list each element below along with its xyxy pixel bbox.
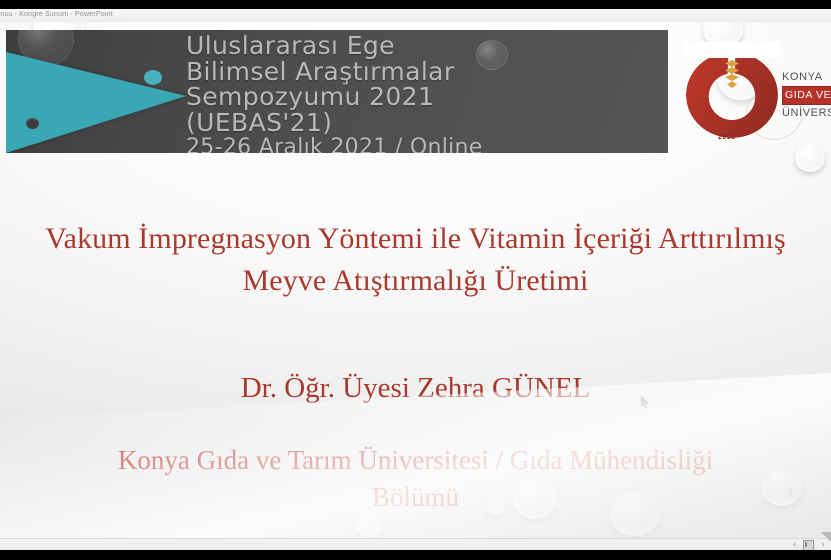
slide-title-line-1: Vakum İmpregnasyon Yöntemi ile Vitamin İ… [0,218,831,260]
banner-line-5: 25-26 Aralık 2021 / Online [186,135,668,153]
slide-menu-icon[interactable] [803,540,814,551]
logo-line-konya: KONYA [782,70,831,85]
symposium-banner: Uluslararası Ege Bilimsel Araştırmalar S… [6,30,668,153]
slide-number: 1 [788,486,794,498]
logo-text-block: KONYA GIDA VE TAR ÜNİVERSİTE [782,70,831,121]
slide-affiliation: Konya Gıda ve Tarım Üniversitesi / Gıda … [0,442,831,516]
banner-triangle-accent [6,48,186,153]
logo-line-universite: ÜNİVERSİTE [782,106,831,121]
banner-line-4: (UEBAS'21) [186,110,668,136]
slide-affiliation-line-2: Bölümü [0,479,831,516]
slide-author: Dr. Öğr. Üyesi Zehra GÜNEL [0,370,831,406]
slide-title: Vakum İmpregnasyon Yöntemi ile Vitamin İ… [0,218,831,302]
powerpoint-window: ...nsu - Kongre Sunum - PowerPoint Ulusl… [0,0,831,560]
slide-title-line-2: Meyve Atıştırmalığı Üretimi [0,260,831,302]
logo-line-gida-ve-tarim: GIDA VE TAR [782,86,831,105]
banner-line-2: Bilimsel Araştırmalar [186,59,668,85]
banner-triangle-bump [26,118,39,129]
logo-wheat-icon [725,60,739,94]
slide-affiliation-line-1: Konya Gıda ve Tarım Üniversitesi / Gıda … [0,442,831,479]
bottom-letterbox [0,550,831,560]
top-letterbox [0,0,831,9]
banner-text-block: Uluslararası Ege Bilimsel Araştırmalar S… [186,33,668,153]
window-resize-grip[interactable] [819,532,831,542]
droplet-decoration [356,514,382,538]
window-title-text: ...nsu - Kongre Sunum - PowerPoint [0,11,113,18]
slide-author-text: Dr. Öğr. Üyesi Zehra GÜNEL [241,372,591,404]
logo-crescent-mark: 2013 [684,42,780,146]
banner-triangle-bump [144,70,162,85]
window-titlebar[interactable]: ...nsu - Kongre Sunum - PowerPoint [0,9,831,23]
slide-canvas[interactable]: Uluslararası Ege Bilimsel Araştırmalar S… [0,22,831,538]
logo-year-text: 2013 [718,134,736,141]
university-logo: 2013 KONYA GIDA VE TAR ÜNİVERSİTE [676,36,831,161]
banner-line-1: Uluslararası Ege [186,33,668,59]
banner-line-3: Sempozyumu 2021 [186,84,668,110]
